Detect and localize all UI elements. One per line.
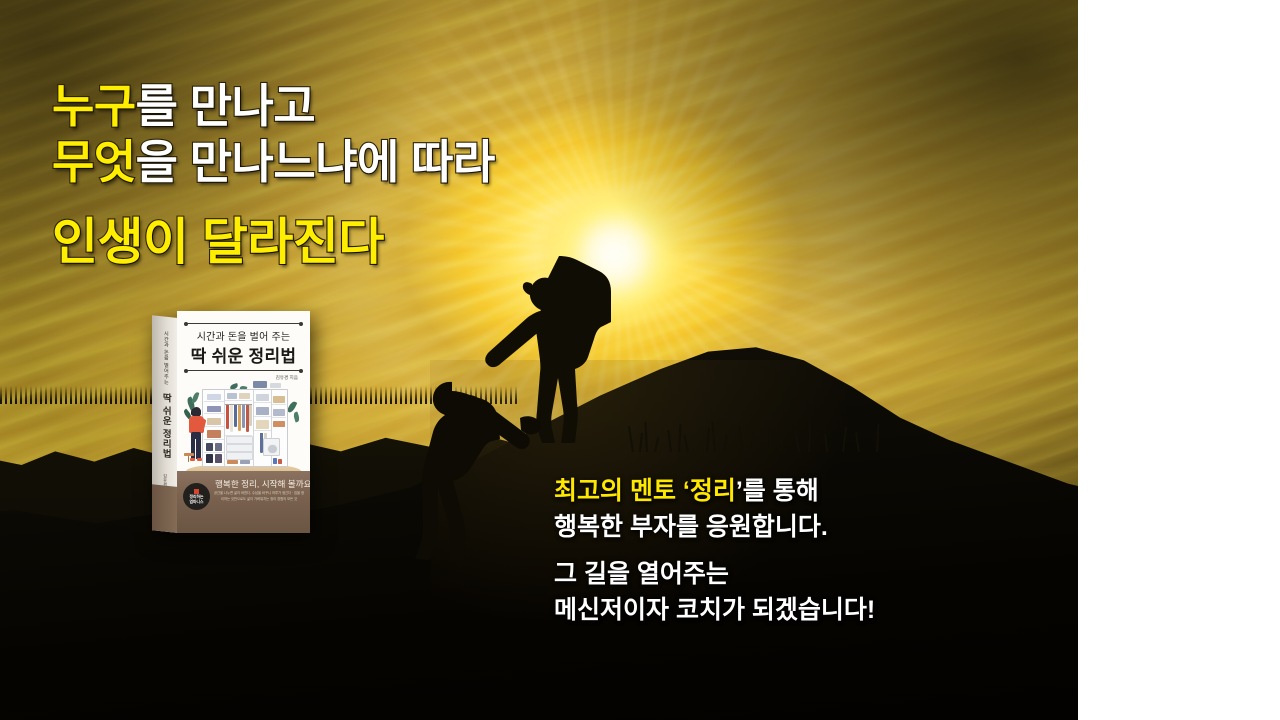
subcopy-line-2: 행복한 부자를 응원합니다.	[554, 510, 1024, 546]
book-cover[interactable]: 시간과 돈을 벌어주는 딱 쉬운 정리법 김유경 지음 시간과 돈을 벌어 주는…	[152, 311, 310, 533]
headline-line-2-highlight: 무엇	[52, 136, 136, 188]
headline-line-1-rest: 를 만나고	[136, 80, 316, 132]
book-spine-band	[152, 484, 178, 533]
cover-rule-top	[186, 323, 301, 324]
washer-door-icon	[267, 444, 278, 455]
background-photo: 누구를 만나고 무엇을 만나느냐에 따라 인생이 달라진다 최고의 멘토 ‘정리…	[0, 0, 1078, 720]
headline-line-1-highlight: 누구	[52, 80, 136, 132]
woman-shoe-left	[190, 458, 195, 461]
book-title-large: 딱 쉬운 정리법	[177, 342, 310, 367]
book-front-cover: 시간과 돈을 벌어 주는 딱 쉬운 정리법 김유경 지음	[177, 311, 310, 533]
cover-band-subtext: 공간을 나누면 삶이 바뀐다, 수납을 바꾸니 하루가 생긴다 · 집을 정리하…	[213, 491, 305, 503]
book-spine-title-large: 딱 쉬운 정리법	[160, 392, 170, 459]
headline: 누구를 만나고 무엇을 만나느냐에 따라 인생이 달라진다	[52, 78, 672, 273]
headline-line-3-text: 인생이 달라진다	[52, 214, 384, 270]
subcopy-line-3: 그 길을 열어주는	[554, 557, 1024, 593]
book-spine: 시간과 돈을 벌어주는 딱 쉬운 정리법 김유경 지음	[152, 315, 178, 533]
subcopy-line-1-highlight-b: 정리	[690, 477, 736, 505]
book-author: 김유경 지음	[276, 375, 298, 381]
subcopy-line-4: 메신저이자 코치가 되겠습니다!	[554, 593, 1024, 629]
subcopy-line-1-rest: ’를 통해	[736, 477, 819, 505]
cover-band-question: 행복한 정리, 시작해 볼까요?	[215, 478, 310, 490]
headline-line-2: 무엇을 만나느냐에 따라	[52, 134, 672, 190]
headline-line-3: 인생이 달라진다	[52, 212, 672, 273]
closet-unit	[202, 389, 288, 467]
subcopy-line-1: 최고의 멘토 ‘정리’를 통해	[554, 474, 1024, 510]
cover-badge: 정리하는 엄마니스	[183, 483, 210, 510]
cover-rule-bottom	[186, 370, 301, 371]
closet-illustration	[182, 383, 305, 475]
woman-leg-gap	[195, 439, 196, 459]
headline-line-1: 누구를 만나고	[52, 78, 672, 134]
subcopy-block: 최고의 멘토 ‘정리’를 통해 행복한 부자를 응원합니다. 그 길을 열어주는…	[554, 474, 1024, 628]
woman-shoe-right	[197, 458, 202, 461]
badge-mark-icon	[194, 489, 199, 494]
badge-line-2: 엄마니스	[190, 500, 204, 504]
letterbox-right	[1078, 0, 1280, 720]
headline-line-2-rest: 을 만나느냐에 따라	[136, 136, 495, 188]
subcopy-line-1-highlight-a: 최고의 멘토 ‘	[554, 477, 690, 505]
cover-bottom-band: 정리하는 엄마니스 행복한 정리, 시작해 볼까요? 공간을 나누면 삶이 바뀐…	[177, 471, 310, 533]
book-title-small: 시간과 돈을 벌어 주는	[177, 328, 310, 343]
poster-canvas: 누구를 만나고 무엇을 만나느냐에 따라 인생이 달라진다 최고의 멘토 ‘정리…	[0, 0, 1280, 720]
book-spine-title-small: 시간과 돈을 벌어주는	[162, 330, 168, 385]
washing-machine-icon	[263, 438, 280, 456]
